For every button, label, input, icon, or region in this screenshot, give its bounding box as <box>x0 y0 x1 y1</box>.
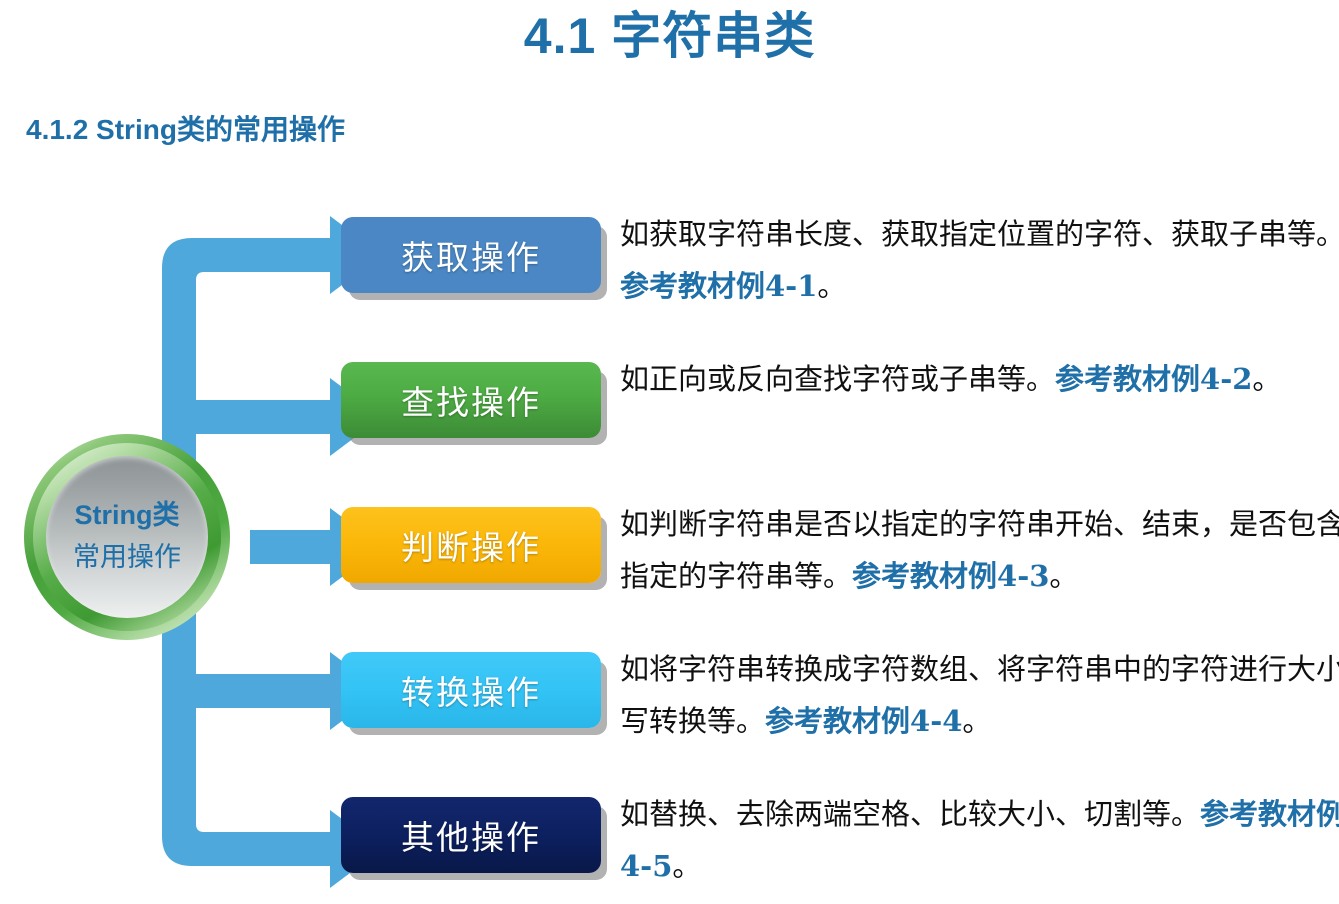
node-box-convert[interactable]: 转换操作 <box>341 652 601 728</box>
desc-tail: 。 <box>962 704 991 738</box>
node-box-other[interactable]: 其他操作 <box>341 797 601 873</box>
node-label: 其他操作 <box>401 811 541 859</box>
slide-canvas: 4.1 字符串类 4.1.2 String类的常用操作 String类 常用操作… <box>0 0 1339 904</box>
node-description-find: 如正向或反向查找字符或子串等。参考教材例4-2。 <box>620 353 1339 405</box>
desc-tail: 。 <box>1252 362 1281 396</box>
desc-reference: 参考教材例4-2 <box>1055 362 1252 396</box>
node-label: 转换操作 <box>401 666 541 714</box>
node-description-judge: 如判断字符串是否以指定的字符串开始、结束，是否包含指定的字符串等。参考教材例4-… <box>620 498 1339 602</box>
desc-reference: 参考教材例4-3 <box>852 559 1049 593</box>
desc-reference: 参考教材例4-1 <box>620 269 817 303</box>
desc-reference: 参考教材例4-4 <box>765 704 962 738</box>
node-description-convert: 如将字符串转换成字符数组、将字符串中的字符进行大小写转换等。参考教材例4-4。 <box>620 643 1339 747</box>
hub-core: String类 常用操作 <box>46 456 208 618</box>
desc-tail: 。 <box>672 849 701 883</box>
hub-label-line2: 常用操作 <box>73 537 181 579</box>
node-box-get[interactable]: 获取操作 <box>341 217 601 293</box>
node-box-judge[interactable]: 判断操作 <box>341 507 601 583</box>
node-label: 查找操作 <box>401 376 541 424</box>
desc-tail: 。 <box>1049 559 1078 593</box>
node-box-find[interactable]: 查找操作 <box>341 362 601 438</box>
desc-lead: 如正向或反向查找字符或子串等。 <box>620 362 1055 396</box>
hub-label-line1: String类 <box>75 495 180 537</box>
desc-tail: 。 <box>817 269 846 303</box>
node-label: 获取操作 <box>401 231 541 279</box>
hub-node[interactable]: String类 常用操作 <box>24 434 230 640</box>
node-description-get: 如获取字符串长度、获取指定位置的字符、获取子串等。参考教材例4-1。 <box>620 208 1339 312</box>
node-label: 判断操作 <box>401 521 541 569</box>
desc-lead: 如获取字符串长度、获取指定位置的字符、获取子串等。 <box>620 217 1339 251</box>
desc-lead: 如替换、去除两端空格、比较大小、切割等。 <box>620 797 1200 831</box>
node-description-other: 如替换、去除两端空格、比较大小、切割等。参考教材例4-5。 <box>620 788 1339 892</box>
